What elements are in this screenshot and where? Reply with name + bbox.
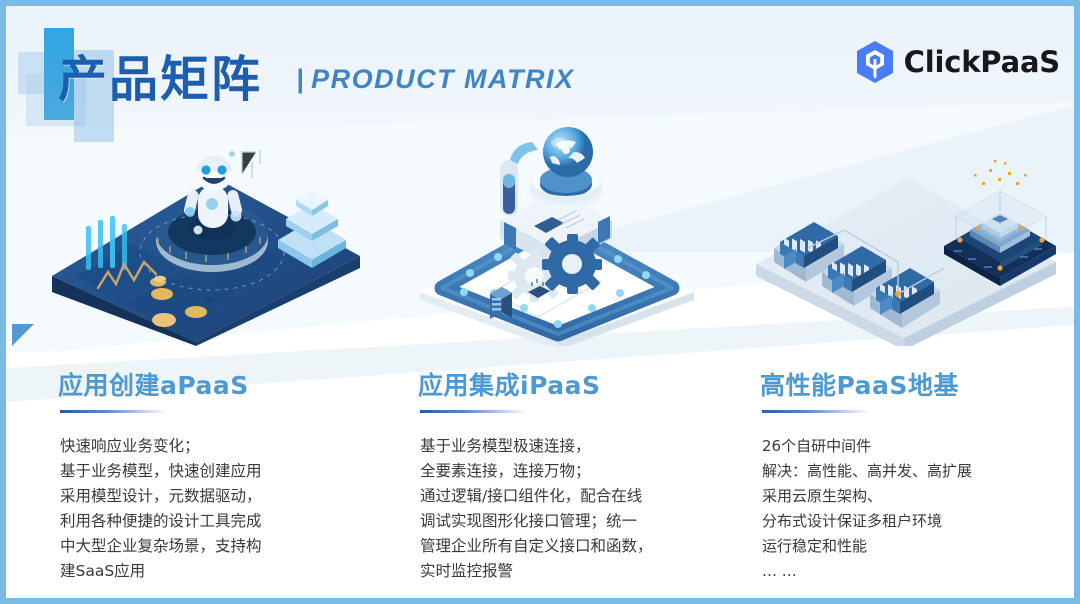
server-racks-datacenter-pyramid-illustration bbox=[748, 116, 1068, 346]
subtitle-bar: | bbox=[296, 64, 305, 94]
page-subtitle: |PRODUCT MATRIX bbox=[296, 64, 575, 95]
column-rule bbox=[60, 410, 168, 413]
brand-name: ClickPaaS bbox=[904, 45, 1060, 79]
hexagon-cube-icon bbox=[855, 40, 895, 84]
page-title: 产品矩阵 bbox=[58, 40, 262, 111]
column-rule bbox=[762, 410, 870, 413]
slide-header: 产品矩阵 |PRODUCT MATRIX ClickPaaS bbox=[6, 6, 1080, 126]
globe-gear-conveyor-platform-illustration bbox=[406, 116, 726, 346]
robot-dashboard-platform-illustration bbox=[46, 116, 366, 346]
column-body-ipaas: 基于业务模型极速连接， 全要素连接，连接万物； 通过逻辑/接口组件化，配合在线 … bbox=[420, 434, 740, 584]
product-matrix-slide: 产品矩阵 |PRODUCT MATRIX ClickPaaS bbox=[0, 0, 1080, 604]
column-heading-ipaas: 应用集成iPaaS bbox=[418, 366, 600, 402]
product-columns: 应用创建aPaaS 快速响应业务变化； 基于业务模型，快速创建应用 采用模型设计… bbox=[6, 116, 1080, 604]
column-heading-apaas: 应用创建aPaaS bbox=[58, 366, 249, 402]
subtitle-text: PRODUCT MATRIX bbox=[311, 64, 575, 94]
column-body-paas-foundation: 26个自研中间件 解决：高性能、高并发、高扩展 采用云原生架构、 分布式设计保证… bbox=[762, 434, 1080, 584]
product-column-paas-foundation: 高性能PaaS地基 26个自研中间件 解决：高性能、高并发、高扩展 采用云原生架… bbox=[748, 116, 1080, 604]
product-column-ipaas: 应用集成iPaaS 基于业务模型极速连接， 全要素连接，连接万物； 通过逻辑/接… bbox=[406, 116, 746, 604]
column-body-apaas: 快速响应业务变化； 基于业务模型，快速创建应用 采用模型设计，元数据驱动， 利用… bbox=[60, 434, 380, 584]
product-column-apaas: 应用创建aPaaS 快速响应业务变化； 基于业务模型，快速创建应用 采用模型设计… bbox=[46, 116, 386, 604]
column-heading-paas-foundation: 高性能PaaS地基 bbox=[760, 366, 959, 402]
brand-logo[interactable]: ClickPaaS bbox=[855, 40, 1060, 84]
column-rule bbox=[420, 410, 528, 413]
